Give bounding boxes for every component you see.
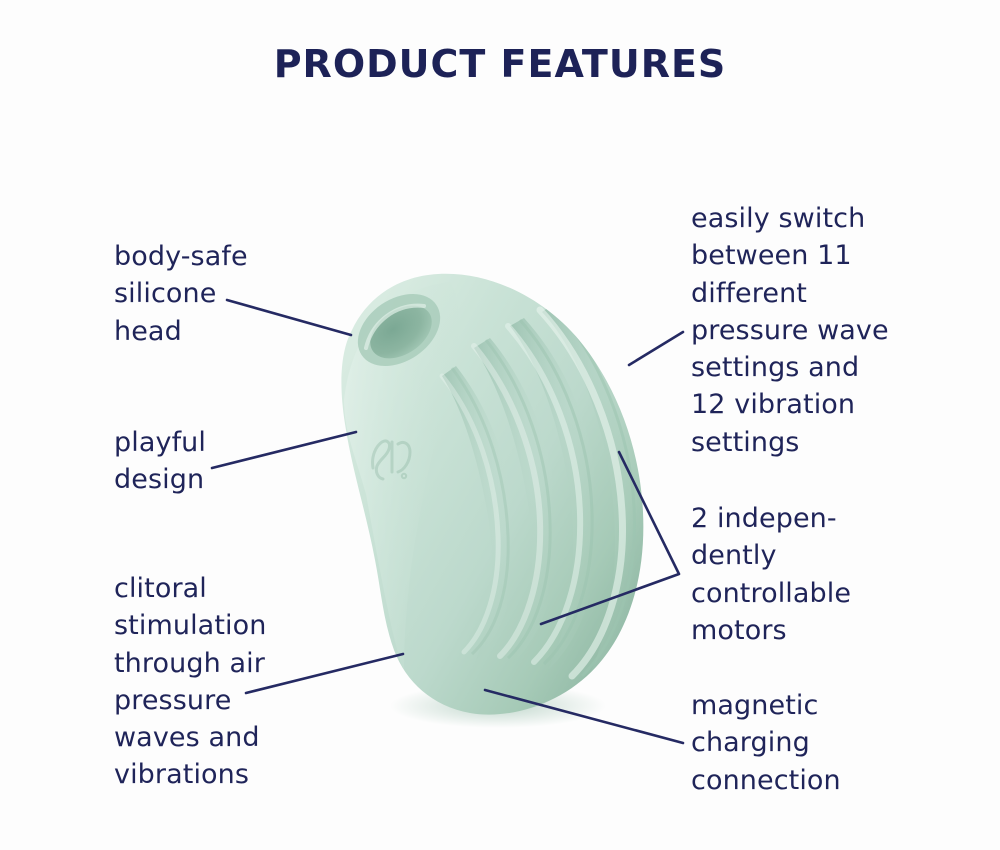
product-features-infographic: PRODUCT FEATURES <box>0 0 1000 850</box>
callout-independently-controllable-motors: 2 indepen- dently controllable motors <box>691 500 951 649</box>
leader-line-settings <box>629 332 683 365</box>
product-body <box>341 274 700 722</box>
callout-pressure-wave-and-vibration-settings: easily switch between 11 different press… <box>691 200 951 461</box>
callout-body-safe-silicone-head: body-safe silicone head <box>114 238 364 350</box>
callout-magnetic-charging-connection: magnetic charging connection <box>691 687 951 799</box>
callout-clitoral-stimulation: clitoral stimulation through air pressur… <box>114 570 384 794</box>
callout-playful-design: playful design <box>114 424 364 499</box>
